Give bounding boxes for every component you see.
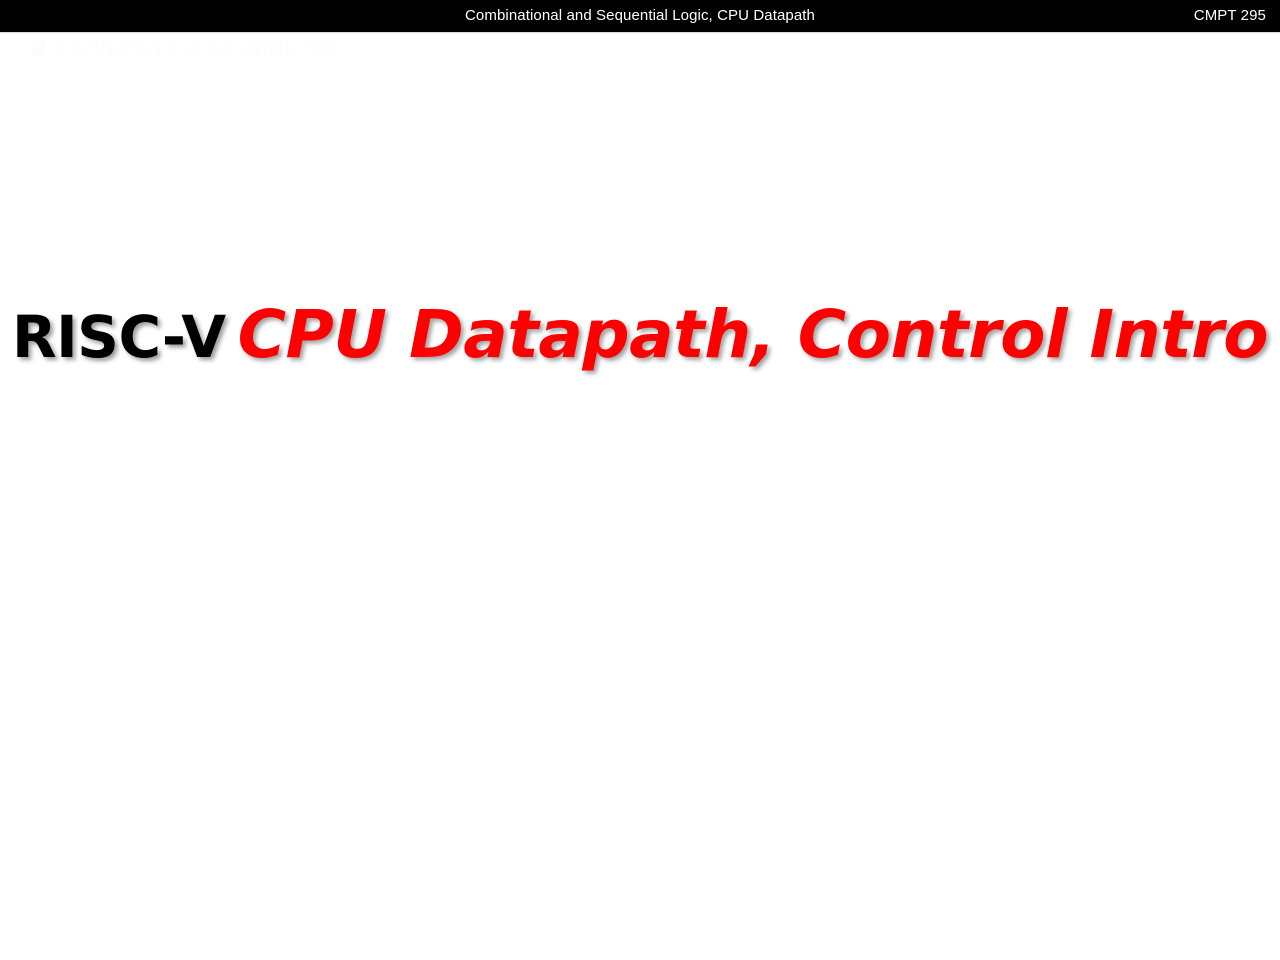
header-course-code: CMPT 295 — [1194, 0, 1266, 32]
slide-title-block: RISC-VCPU Datapath, Control Intro — [0, 300, 1280, 369]
slide-title-prefix: RISC-V — [12, 303, 226, 371]
slide-header-bar: Combinational and Sequential Logic, CPU … — [0, 0, 1280, 32]
slide-title-main: CPU Datapath, Control Intro — [238, 296, 1268, 373]
slide-title-line: RISC-VCPU Datapath, Control Intro — [12, 300, 1268, 369]
header-lecture-title: Combinational and Sequential Logic, CPU … — [0, 0, 1280, 32]
slide-content-area — [0, 33, 1280, 960]
slide-root: UNIVERSITY of WASHINGTON Combinational a… — [0, 0, 1280, 960]
header-underline-divider — [0, 32, 1280, 33]
